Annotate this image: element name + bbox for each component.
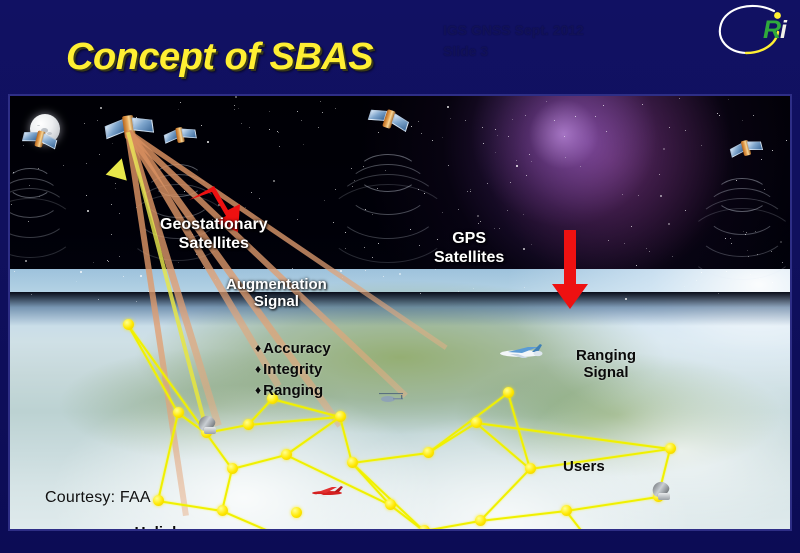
star-icon (531, 161, 532, 162)
star-icon (564, 136, 565, 137)
ground-station-node (173, 407, 184, 418)
label-geostationary-satellites: Geostationary Satellites (160, 216, 268, 253)
star-icon (123, 276, 124, 277)
star-icon (335, 108, 336, 109)
star-icon (523, 248, 525, 250)
star-icon (207, 141, 209, 143)
star-icon (465, 120, 466, 121)
star-icon (234, 109, 235, 110)
star-icon (140, 275, 142, 277)
ground-station-node (347, 457, 358, 468)
header-meta-line2: Slide 3 (443, 41, 584, 62)
star-icon (772, 150, 773, 151)
star-icon (526, 175, 527, 176)
star-icon (659, 174, 660, 175)
star-icon (450, 118, 451, 119)
star-icon (108, 261, 109, 262)
star-icon (435, 269, 436, 270)
star-icon (447, 106, 449, 108)
star-icon (625, 298, 627, 300)
star-icon (292, 268, 293, 269)
star-icon (719, 115, 720, 116)
star-icon (63, 165, 64, 166)
star-icon (580, 166, 581, 167)
star-icon (80, 271, 82, 273)
logo-letter-r: R (763, 16, 780, 44)
star-icon (608, 240, 609, 241)
slide-canvas: Concept of SBAS IGS GNSS Sept. 2012 Slid… (0, 0, 800, 553)
star-icon (301, 120, 302, 121)
page-title: Concept of SBAS (66, 36, 373, 79)
ground-station-node (291, 507, 302, 518)
ground-station-node (561, 505, 572, 516)
star-icon (603, 105, 604, 106)
star-icon (772, 282, 773, 283)
label-gps-satellites: GPS Satellites (434, 230, 504, 267)
star-icon (701, 145, 702, 146)
label-augmentation-signal: Augmentation Signal (226, 276, 327, 311)
star-icon (324, 200, 325, 201)
ground-station-node (503, 387, 514, 398)
signal-ripple-icon (685, 208, 792, 280)
star-icon (269, 111, 270, 112)
star-icon (421, 133, 422, 134)
ground-station-node (153, 495, 164, 506)
star-icon (497, 135, 498, 136)
bullet-item: ♦Ranging (255, 380, 331, 401)
star-icon (531, 244, 532, 245)
star-icon (235, 96, 237, 98)
star-icon (420, 293, 421, 294)
star-icon (684, 286, 685, 287)
star-icon (340, 270, 342, 272)
star-icon (259, 198, 260, 199)
star-icon (467, 191, 468, 192)
star-icon (303, 144, 304, 145)
star-icon (672, 256, 673, 257)
bullet-label: Integrity (263, 361, 322, 378)
star-icon (448, 165, 449, 166)
star-icon (234, 105, 235, 106)
star-icon (642, 104, 643, 105)
star-icon (115, 183, 116, 184)
ground-station-node (471, 417, 482, 428)
label-ranging-signal: Ranging Signal (576, 347, 636, 382)
bullet-label: Ranging (263, 382, 323, 399)
ground-station-node (217, 505, 228, 516)
star-icon (322, 112, 323, 113)
star-icon (516, 160, 517, 161)
star-icon (320, 101, 321, 102)
star-icon (696, 280, 697, 281)
ground-station-node (423, 447, 434, 458)
star-icon (717, 113, 718, 114)
star-icon (753, 115, 754, 116)
bullet-label: Accuracy (263, 340, 331, 357)
star-icon (524, 287, 525, 288)
diamond-bullet-icon: ♦ (255, 383, 261, 397)
star-icon (669, 127, 670, 128)
star-icon (606, 131, 607, 132)
star-icon (701, 272, 702, 273)
star-icon (76, 281, 77, 282)
star-icon (742, 120, 743, 121)
star-icon (786, 140, 787, 141)
star-icon (31, 294, 32, 295)
star-icon (180, 102, 181, 103)
light-aircraft-icon (310, 486, 344, 499)
star-icon (663, 148, 665, 150)
star-icon (273, 180, 275, 182)
star-icon (510, 182, 511, 183)
star-icon (499, 228, 500, 229)
star-icon (432, 140, 433, 141)
star-icon (119, 213, 120, 214)
star-icon (718, 293, 719, 294)
star-icon (115, 188, 116, 189)
star-icon (442, 137, 443, 138)
star-icon (508, 136, 509, 137)
airliner-icon (498, 344, 544, 360)
ground-station-node (475, 515, 486, 526)
star-icon (480, 221, 481, 222)
ground-station-node (281, 449, 292, 460)
star-icon (93, 262, 94, 263)
star-icon (201, 125, 202, 126)
star-icon (546, 101, 547, 102)
bullet-item: ♦Integrity (255, 359, 331, 380)
ri-logo: Ri (706, 2, 790, 58)
star-icon (624, 243, 625, 244)
header-meta: IGS GNSS Sept. 2012 Slide 3 (443, 20, 584, 62)
star-icon (622, 194, 623, 195)
star-icon (679, 98, 680, 99)
ground-station-node (525, 463, 536, 474)
star-icon (251, 192, 252, 193)
star-icon (473, 288, 474, 289)
star-icon (365, 270, 366, 271)
star-icon (178, 109, 179, 110)
star-icon (279, 146, 280, 147)
star-icon (418, 121, 419, 122)
star-icon (97, 120, 98, 121)
star-icon (335, 189, 336, 190)
star-icon (249, 127, 250, 128)
star-icon (554, 120, 555, 121)
ground-station-node (243, 419, 254, 430)
star-icon (100, 107, 102, 109)
star-icon (351, 168, 352, 169)
star-icon (575, 116, 576, 117)
star-icon (318, 127, 319, 128)
logo-text: Ri (763, 18, 786, 43)
star-icon (523, 214, 524, 215)
star-icon (86, 195, 87, 196)
star-icon (278, 132, 279, 133)
star-icon (241, 123, 242, 124)
star-icon (86, 163, 87, 164)
diamond-bullet-icon: ♦ (255, 341, 261, 355)
star-icon (761, 159, 762, 160)
star-icon (25, 260, 27, 262)
star-icon (525, 115, 526, 116)
star-icon (383, 276, 384, 277)
star-icon (478, 223, 479, 224)
star-icon (178, 262, 179, 263)
star-icon (516, 165, 518, 167)
star-icon (685, 130, 686, 131)
star-icon (136, 301, 137, 302)
star-icon (470, 191, 471, 192)
star-icon (378, 132, 379, 133)
sbas-concept-illustration: Geostationary Satellites GPS Satellites … (8, 94, 792, 531)
star-icon (646, 248, 647, 249)
star-icon (111, 204, 112, 205)
label-users: Users (563, 458, 605, 475)
network-link (390, 530, 424, 531)
star-icon (458, 291, 459, 292)
star-icon (483, 143, 484, 144)
star-icon (411, 126, 412, 127)
courtesy-credit: Courtesy: FAA (45, 489, 151, 507)
star-icon (487, 183, 488, 184)
star-icon (494, 228, 495, 229)
star-icon (458, 209, 459, 210)
ground-station-node (335, 411, 346, 422)
star-icon (297, 111, 298, 112)
ground-station-node (123, 319, 134, 330)
star-icon (98, 299, 99, 300)
star-icon (477, 215, 479, 217)
sbas-benefit-list: ♦Accuracy♦Integrity♦Ranging (255, 338, 331, 401)
star-icon (399, 273, 401, 275)
helicopter-icon (378, 392, 404, 403)
star-icon (269, 129, 270, 130)
star-icon (495, 152, 496, 153)
star-icon (565, 157, 566, 158)
star-icon (636, 265, 637, 266)
star-icon (238, 108, 239, 109)
star-icon (99, 154, 100, 155)
star-icon (595, 116, 596, 117)
ranging-signal-arrow-icon (550, 230, 590, 310)
star-icon (631, 226, 632, 227)
ground-station-node (385, 499, 396, 510)
star-icon (111, 234, 112, 235)
star-icon (87, 210, 89, 212)
ground-station-node (227, 463, 238, 474)
diamond-bullet-icon: ♦ (255, 362, 261, 376)
star-icon (638, 195, 639, 196)
signal-ripple-icon (324, 184, 452, 263)
label-ground-monitor-stations: Ground Monitor Stations (428, 527, 541, 531)
star-icon (482, 127, 483, 128)
star-icon (512, 119, 513, 120)
star-icon (297, 219, 298, 220)
logo-letter-i: i (780, 16, 786, 44)
star-icon (507, 210, 508, 211)
star-icon (14, 271, 15, 272)
header-meta-line1: IGS GNSS Sept. 2012 (443, 20, 584, 41)
star-icon (119, 256, 120, 257)
star-icon (649, 251, 650, 252)
star-icon (495, 129, 496, 130)
ground-station-node (665, 443, 676, 454)
star-icon (685, 210, 686, 211)
star-icon (790, 181, 791, 182)
star-icon (84, 123, 85, 124)
star-icon (660, 195, 662, 197)
star-icon (529, 154, 530, 155)
star-icon (668, 223, 670, 225)
star-icon (728, 99, 729, 100)
label-uplink-stations: Uplink Stations (128, 524, 187, 531)
bullet-item: ♦Accuracy (255, 338, 331, 359)
